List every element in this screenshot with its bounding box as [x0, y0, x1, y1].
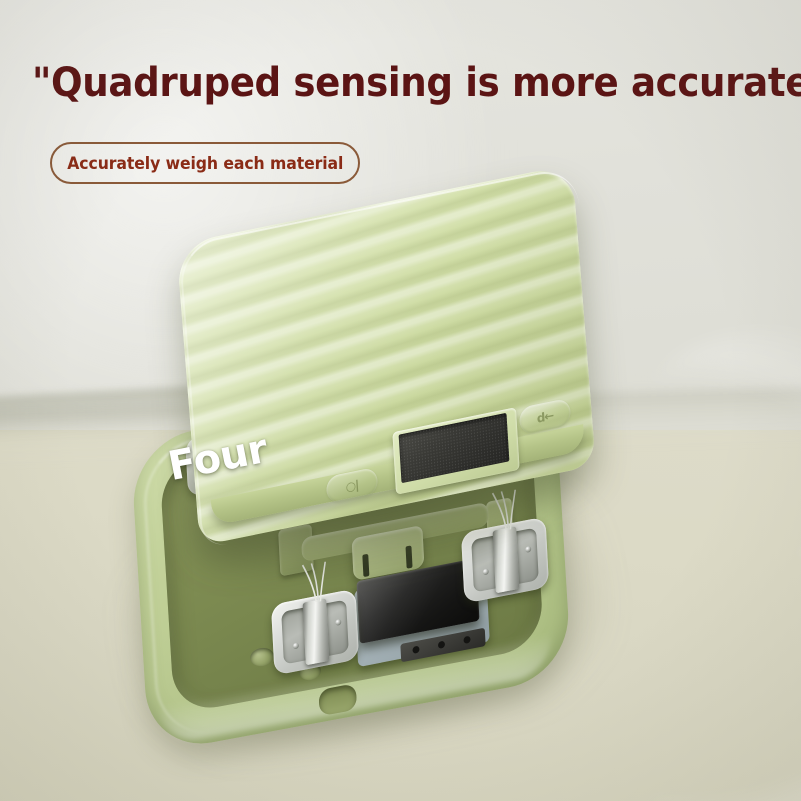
load-cell-screw-hole — [335, 619, 341, 626]
load-cell-sensor-front-left — [271, 588, 359, 675]
product-kitchen-scale: ○| d← Four — [0, 0, 801, 801]
load-cell-screw-hole — [293, 642, 299, 649]
load-cell-screw-hole — [483, 568, 489, 575]
tare-power-button-glyph: d← — [536, 408, 553, 425]
battery-pin — [463, 636, 470, 644]
battery-pin — [438, 641, 445, 649]
load-cell-screw-hole — [525, 546, 531, 553]
load-cell-beam — [303, 598, 330, 665]
promo-image-stage: "Quadruped sensing is more accurate Accu… — [0, 0, 801, 801]
unit-button-glyph: ○| — [345, 477, 358, 494]
battery-pin — [412, 646, 419, 654]
screw-boss-front-left — [249, 646, 276, 668]
